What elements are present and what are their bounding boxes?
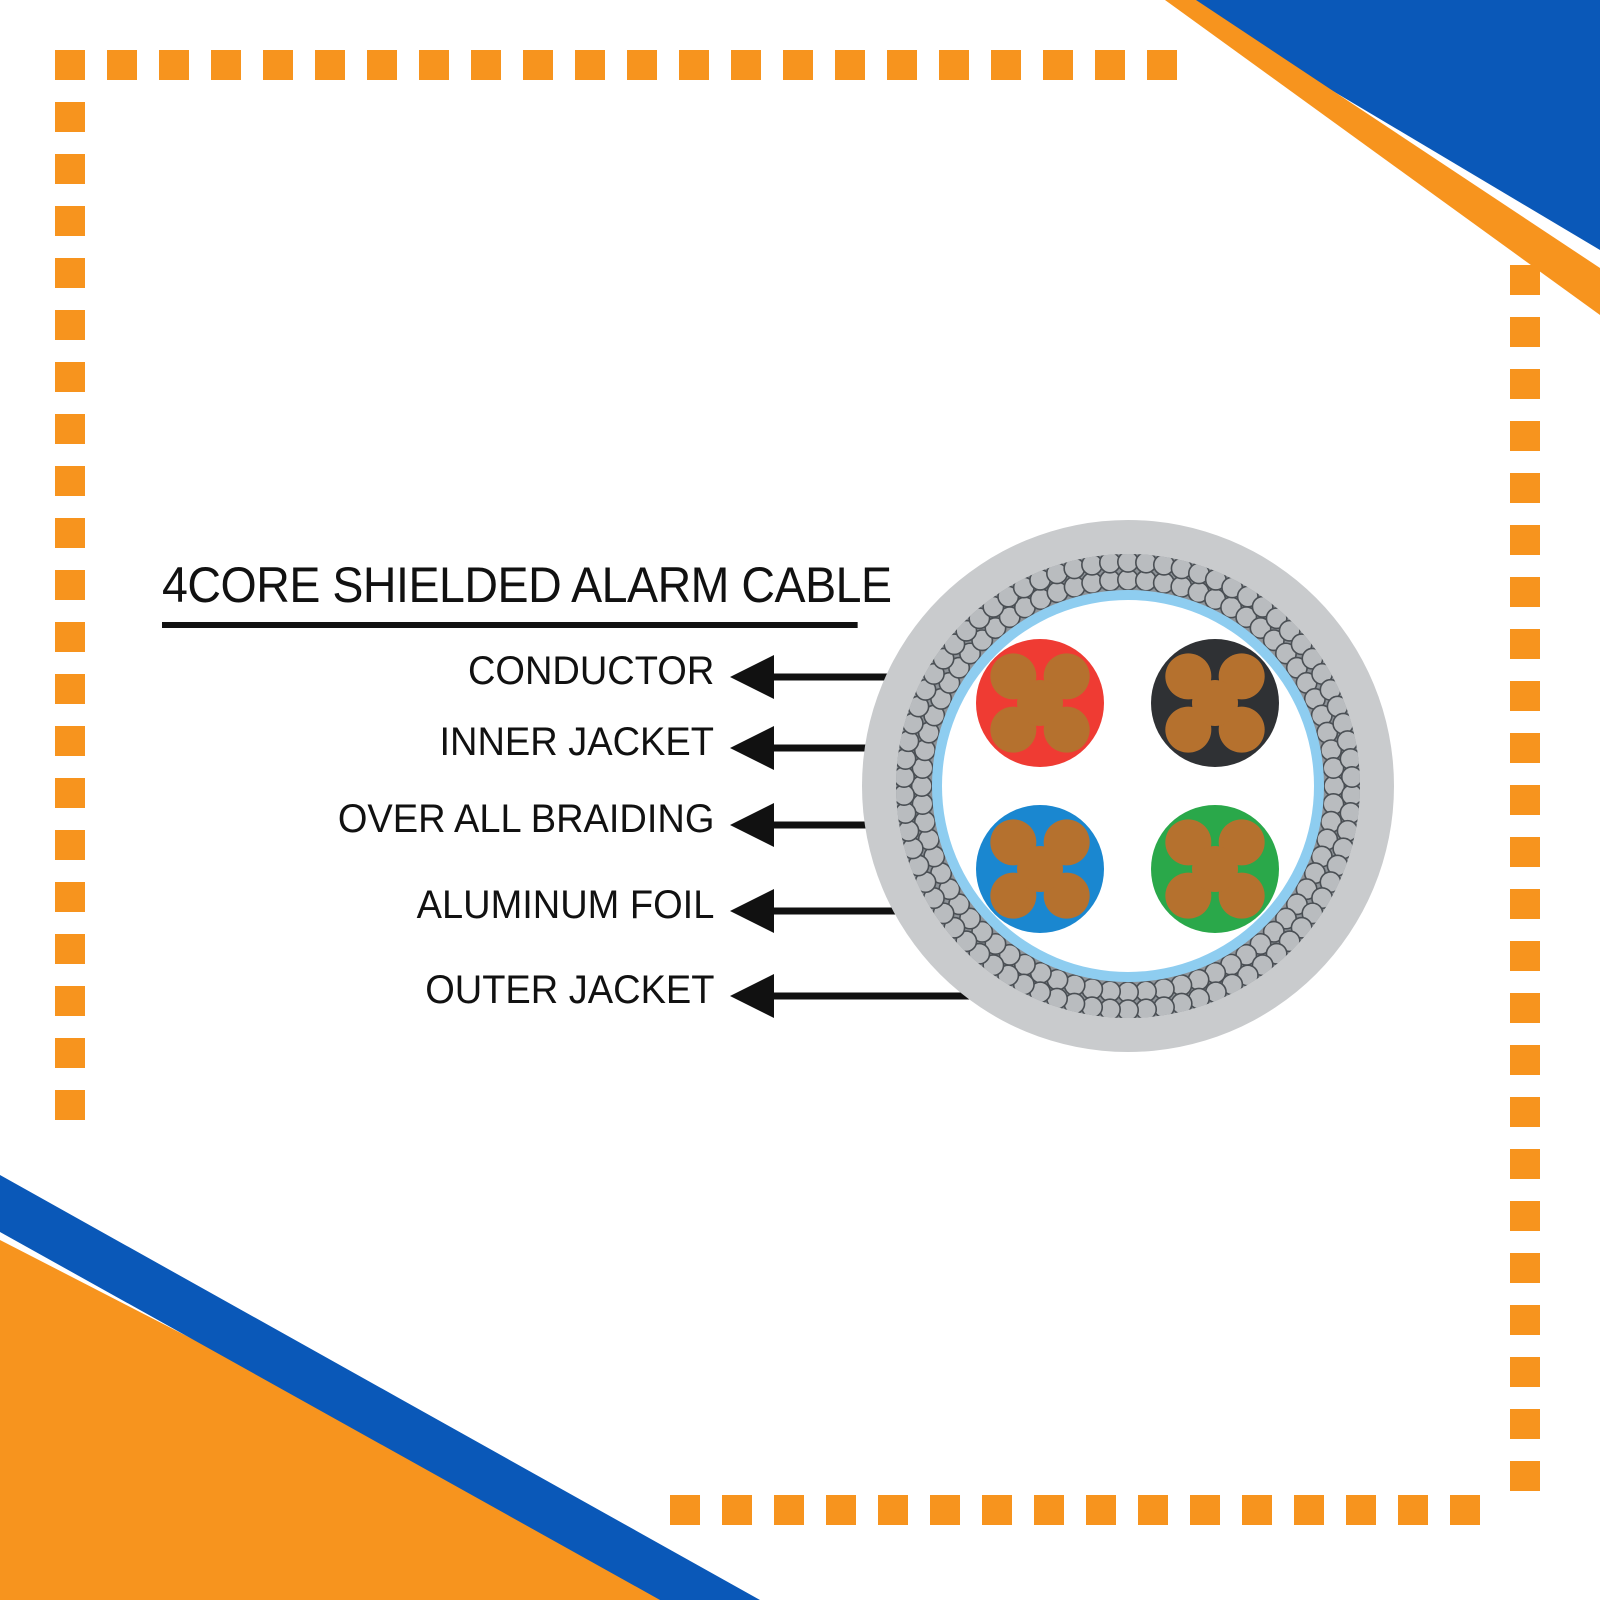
dash-right <box>1510 941 1540 971</box>
title-underline <box>162 622 858 628</box>
callout-arrowhead-conductor <box>730 655 774 699</box>
dash-top <box>159 50 189 80</box>
dash-right <box>1510 525 1540 555</box>
dash-bottom <box>1138 1495 1168 1525</box>
dash-right <box>1510 421 1540 451</box>
dash-bottom <box>930 1495 960 1525</box>
dash-right <box>1510 1305 1540 1335</box>
dash-bottom <box>826 1495 856 1525</box>
dash-bottom <box>774 1495 804 1525</box>
dash-left <box>55 206 85 236</box>
callout-label-conductor: CONDUCTOR <box>468 649 714 694</box>
copper-strand <box>1017 846 1063 892</box>
dash-top <box>211 50 241 80</box>
dash-right <box>1510 1461 1540 1491</box>
dash-top <box>1095 50 1125 80</box>
cable-cross-section-diagram <box>862 518 1394 1054</box>
dash-bottom <box>1086 1495 1116 1525</box>
dash-right <box>1510 1097 1540 1127</box>
dash-top <box>1043 50 1073 80</box>
dash-bottom <box>878 1495 908 1525</box>
dash-left <box>55 986 85 1016</box>
dash-top <box>367 50 397 80</box>
dash-top <box>55 50 85 80</box>
dash-right <box>1510 1357 1540 1387</box>
dash-left <box>55 102 85 132</box>
dash-left <box>55 830 85 860</box>
dash-right <box>1510 1149 1540 1179</box>
dash-bottom <box>1450 1495 1480 1525</box>
copper-strand <box>1192 846 1238 892</box>
poster-canvas: 4CORE SHIELDED ALARM CABLE CONDUCTORINNE… <box>0 0 1600 1600</box>
dash-right <box>1510 785 1540 815</box>
dash-bottom <box>722 1495 752 1525</box>
callout-arrowhead-inner-jacket <box>730 726 774 770</box>
dash-top <box>731 50 761 80</box>
dash-right <box>1510 1253 1540 1283</box>
dash-right <box>1510 317 1540 347</box>
dash-left <box>55 726 85 756</box>
dash-left <box>55 622 85 652</box>
top-right-blue-triangle <box>1180 0 1600 250</box>
dash-left <box>55 674 85 704</box>
copper-strand <box>1192 680 1238 726</box>
dash-top <box>315 50 345 80</box>
dash-left <box>55 310 85 340</box>
dash-left <box>55 934 85 964</box>
dash-top <box>887 50 917 80</box>
dash-top <box>263 50 293 80</box>
callout-label-outer-jacket: OUTER JACKET <box>425 968 714 1013</box>
dash-right <box>1510 1045 1540 1075</box>
dash-right <box>1510 837 1540 867</box>
dash-left <box>55 882 85 912</box>
dash-top <box>783 50 813 80</box>
dash-bottom <box>1242 1495 1272 1525</box>
dash-left <box>55 518 85 548</box>
callout-label-inner-jacket: INNER JACKET <box>440 720 714 765</box>
dash-left <box>55 414 85 444</box>
dash-left <box>55 1090 85 1120</box>
dash-right <box>1510 1409 1540 1439</box>
dash-left <box>55 362 85 392</box>
dash-left <box>55 258 85 288</box>
dash-top <box>679 50 709 80</box>
dash-top <box>523 50 553 80</box>
callout-arrowhead-outer-jacket <box>730 974 774 1018</box>
dash-top <box>419 50 449 80</box>
dash-right <box>1510 889 1540 919</box>
dash-top <box>1147 50 1177 80</box>
callout-label-braiding: OVER ALL BRAIDING <box>337 797 714 842</box>
dash-bottom <box>1034 1495 1064 1525</box>
page-title: 4CORE SHIELDED ALARM CABLE <box>162 556 892 614</box>
dash-left <box>55 466 85 496</box>
dash-top <box>627 50 657 80</box>
dash-right <box>1510 1201 1540 1231</box>
bottom-left-blue-stripe <box>0 1175 760 1600</box>
dash-top <box>939 50 969 80</box>
dash-left <box>55 570 85 600</box>
dash-top <box>835 50 865 80</box>
dash-right <box>1510 473 1540 503</box>
dash-top <box>575 50 605 80</box>
callout-arrowhead-aluminum <box>730 889 774 933</box>
dash-bottom <box>982 1495 1012 1525</box>
dash-left <box>55 154 85 184</box>
callout-arrowhead-braiding <box>730 803 774 847</box>
copper-strand <box>1017 680 1063 726</box>
dash-right <box>1510 733 1540 763</box>
dash-top <box>471 50 501 80</box>
dash-top <box>991 50 1021 80</box>
bottom-left-orange-triangle <box>0 1240 700 1600</box>
dash-right <box>1510 993 1540 1023</box>
dash-right <box>1510 265 1540 295</box>
callout-label-aluminum: ALUMINUM FOIL <box>416 883 714 928</box>
dash-right <box>1510 369 1540 399</box>
dash-right <box>1510 577 1540 607</box>
dash-bottom <box>1294 1495 1324 1525</box>
dash-right <box>1510 629 1540 659</box>
dash-left <box>55 778 85 808</box>
dash-bottom <box>1190 1495 1220 1525</box>
dash-bottom <box>1398 1495 1428 1525</box>
dash-top <box>107 50 137 80</box>
dash-bottom <box>1346 1495 1376 1525</box>
dash-right <box>1510 681 1540 711</box>
dash-bottom <box>670 1495 700 1525</box>
dash-left <box>55 1038 85 1068</box>
